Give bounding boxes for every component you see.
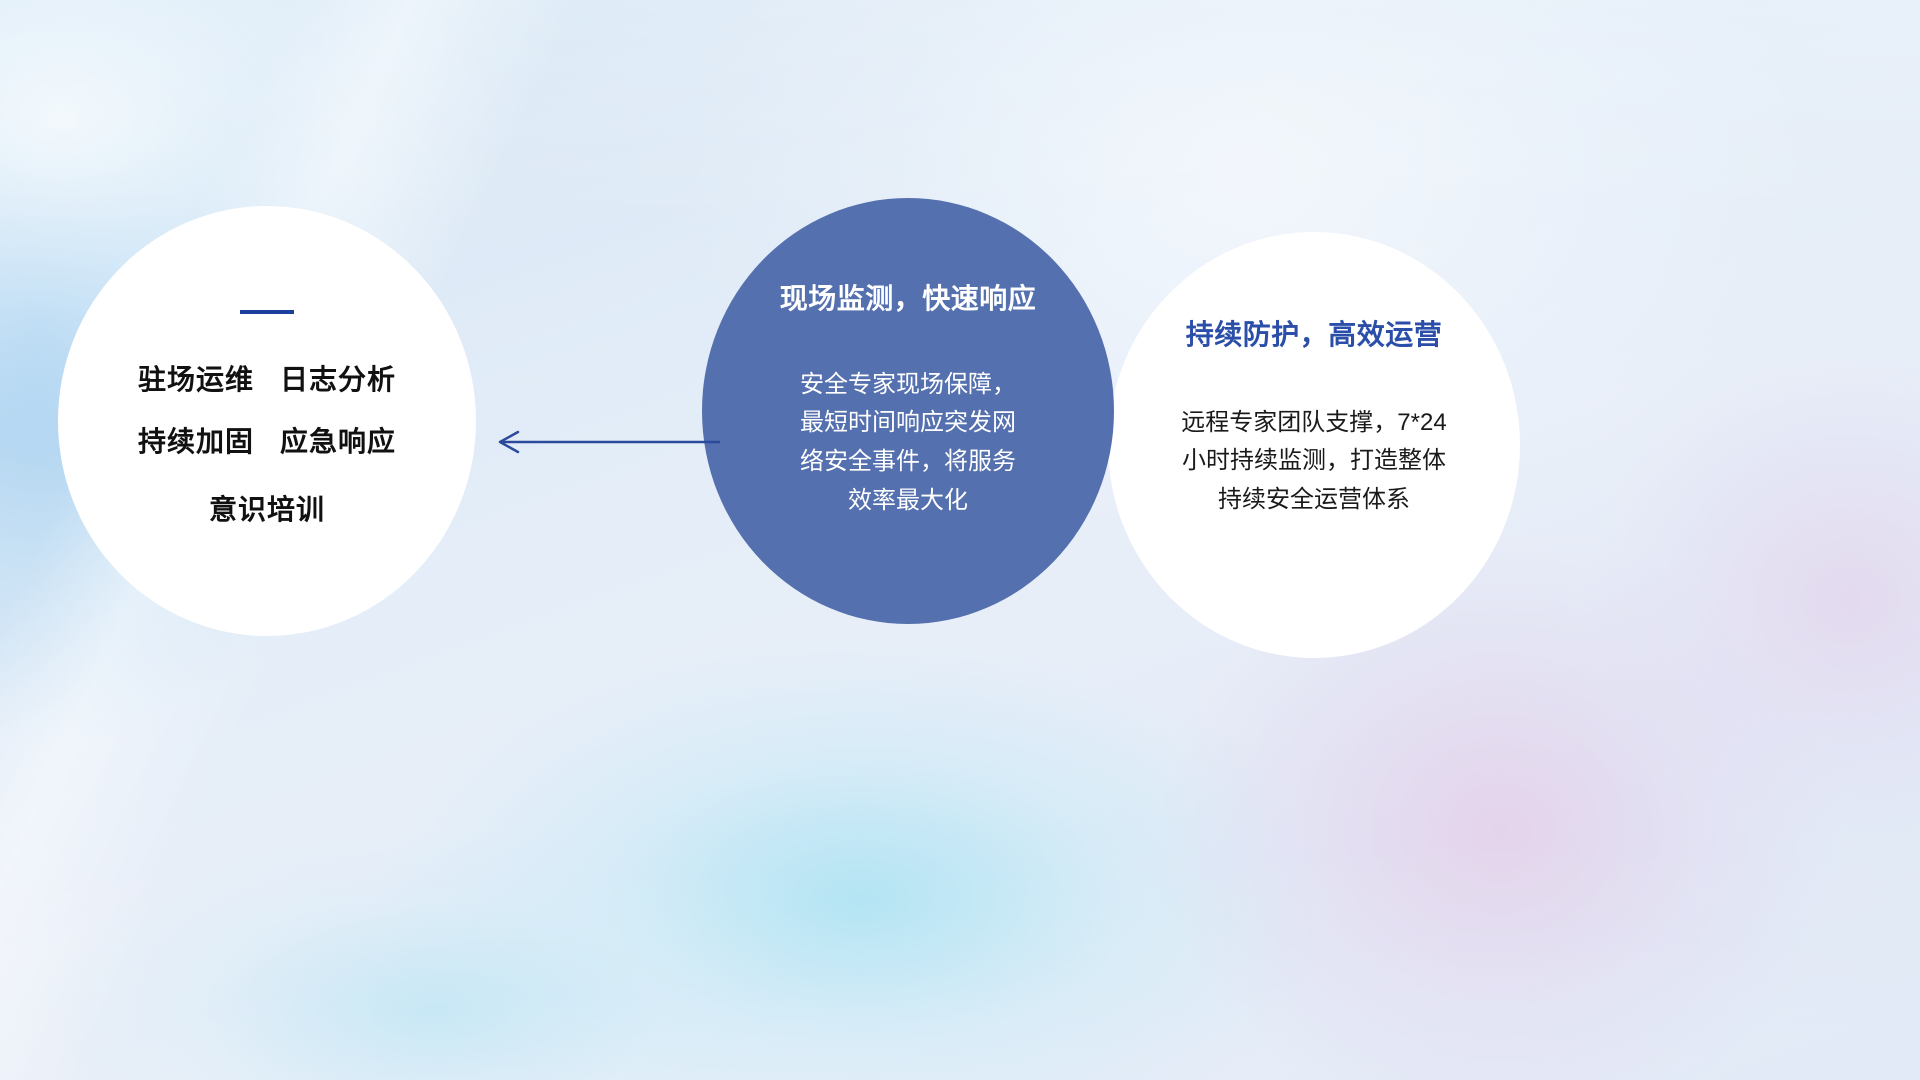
middle-body-line-3: 络安全事件，将服务 — [753, 443, 1063, 482]
right-body-line-2: 小时持续监测，打造整体 — [1140, 442, 1488, 481]
middle-circle-body: 安全专家现场保障， 最短时间响应突发网 络安全事件，将服务 效率最大化 — [753, 366, 1063, 522]
right-body-line-1: 远程专家团队支撑，7*24 — [1140, 404, 1488, 443]
middle-body-line-2: 最短时间响应突发网 — [753, 404, 1063, 443]
capability-row-1: 驻场运维日志分析 — [138, 366, 396, 394]
capability-label-yingjixiangying: 应急响应 — [280, 426, 396, 457]
middle-body-line-1: 安全专家现场保障， — [753, 366, 1063, 405]
right-circle-body: 远程专家团队支撑，7*24 小时持续监测，打造整体 持续安全运营体系 — [1140, 404, 1488, 521]
right-service-circle[interactable]: 持续防护，高效运营 远程专家团队支撑，7*24 小时持续监测，打造整体 持续安全… — [1108, 232, 1520, 658]
right-circle-title: 持续防护，高效运营 — [1186, 318, 1443, 352]
capability-label-zhuchangyunwei: 驻场运维 — [138, 364, 254, 395]
slide-canvas: 驻场运维日志分析 持续加固应急响应 意识培训 持续防护，高效运营 远程专家团队支… — [0, 0, 1920, 1080]
capability-row-2: 持续加固应急响应 — [138, 428, 396, 456]
right-body-line-3: 持续安全运营体系 — [1140, 481, 1488, 520]
capability-row-3: 意识培训 — [209, 496, 325, 524]
arrow-left-icon — [492, 424, 724, 460]
middle-circle-title: 现场监测，快速响应 — [780, 282, 1037, 316]
capability-label-chixujiagu: 持续加固 — [138, 426, 254, 457]
capability-label-rizhifenxi: 日志分析 — [280, 364, 396, 395]
divider-dash-icon — [240, 310, 294, 314]
left-capability-circle[interactable]: 驻场运维日志分析 持续加固应急响应 意识培训 — [58, 206, 476, 636]
capability-label-yishipeixun: 意识培训 — [209, 494, 325, 525]
middle-body-line-4: 效率最大化 — [753, 482, 1063, 521]
middle-service-circle[interactable]: 现场监测，快速响应 安全专家现场保障， 最短时间响应突发网 络安全事件，将服务 … — [702, 198, 1114, 624]
